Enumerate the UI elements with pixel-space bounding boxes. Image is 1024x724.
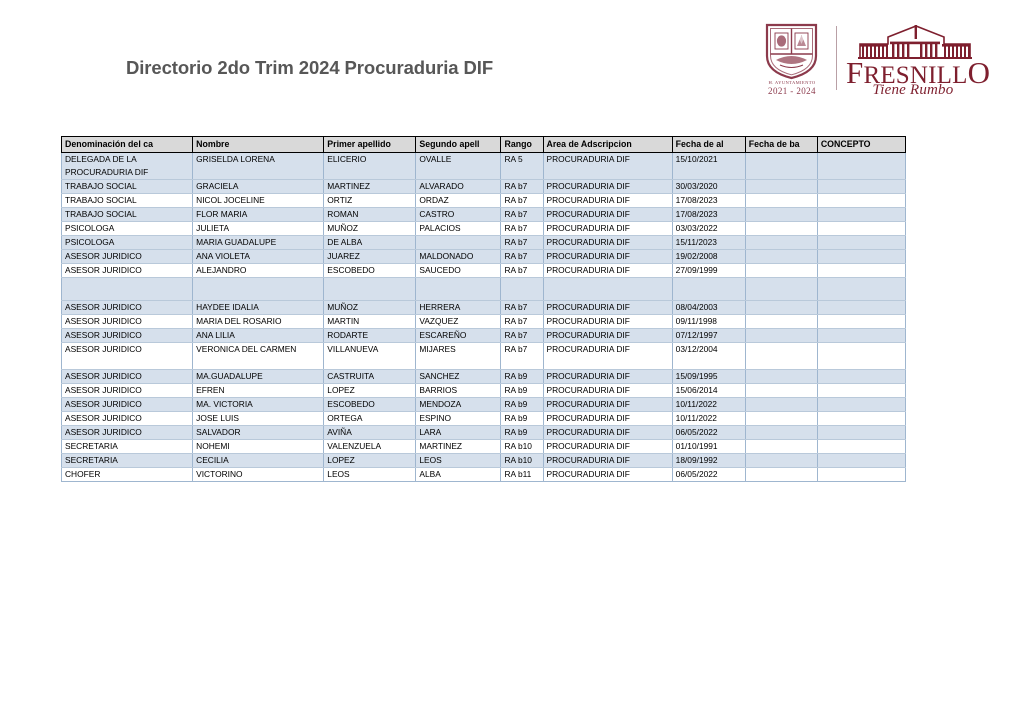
table-cell: PROCURADURIA DIF xyxy=(543,440,672,454)
table-cell: ASESOR JURIDICO xyxy=(62,329,193,343)
table-cell: ASESOR JURIDICO xyxy=(62,384,193,398)
table-cell xyxy=(672,278,745,301)
table-cell: ASESOR JURIDICO xyxy=(62,398,193,412)
table-cell xyxy=(745,454,817,468)
table-cell xyxy=(62,278,193,301)
table-cell: TRABAJO SOCIAL xyxy=(62,194,193,208)
table-cell: MARTINEZ xyxy=(324,180,416,194)
table-cell: PROCURADURIA DIF xyxy=(543,398,672,412)
table-row: ASESOR JURIDICOMA. VICTORIAESCOBEDOMENDO… xyxy=(62,398,906,412)
table-cell: PROCURADURIA DIF xyxy=(543,426,672,440)
table-cell: RA b7 xyxy=(501,264,543,278)
table-cell xyxy=(817,194,905,208)
fresnillo-tagline: Tiene Rumbo xyxy=(846,82,980,99)
table-cell: VALENZUELA xyxy=(324,440,416,454)
table-row: TRABAJO SOCIALFLOR MARIAROMANCASTRORA b7… xyxy=(62,208,906,222)
table-cell: RODARTE xyxy=(324,329,416,343)
column-header-area-adscripcion: Area de Adscripcion xyxy=(543,137,672,153)
table-cell: JUAREZ xyxy=(324,250,416,264)
table-cell xyxy=(745,343,817,370)
table-cell: CASTRUITA xyxy=(324,370,416,384)
table-cell: DE ALBA xyxy=(324,236,416,250)
table-row: PSICOLOGAJULIETAMUÑOZPALACIOSRA b7PROCUR… xyxy=(62,222,906,236)
table-row: PSICOLOGAMARIA GUADALUPEDE ALBARA b7PROC… xyxy=(62,236,906,250)
table-cell: CASTRO xyxy=(416,208,501,222)
table-cell: VICTORINO xyxy=(193,468,324,482)
table-cell: PALACIOS xyxy=(416,222,501,236)
table-cell: RA b9 xyxy=(501,412,543,426)
table-cell: 06/05/2022 xyxy=(672,468,745,482)
fresnillo-logo: FRESNILLO Tiene Rumbo xyxy=(846,24,980,104)
table-cell: SECRETARIA xyxy=(62,440,193,454)
table-cell xyxy=(745,264,817,278)
table-cell: 03/03/2022 xyxy=(672,222,745,236)
table-cell: 07/12/1997 xyxy=(672,329,745,343)
table-cell: 15/09/1995 xyxy=(672,370,745,384)
table-cell: MUÑOZ xyxy=(324,301,416,315)
table-cell: GRACIELA xyxy=(193,180,324,194)
table-cell: MALDONADO xyxy=(416,250,501,264)
table-cell xyxy=(745,384,817,398)
table-cell: JOSE LUIS xyxy=(193,412,324,426)
table-cell: ASESOR JURIDICO xyxy=(62,426,193,440)
table-cell: HERRERA xyxy=(416,301,501,315)
table-cell xyxy=(745,153,817,180)
table-cell: LOPEZ xyxy=(324,454,416,468)
table-cell: HAYDEE IDALIA xyxy=(193,301,324,315)
table-cell: TRABAJO SOCIAL xyxy=(62,180,193,194)
table-cell: PROCURADURIA DIF xyxy=(543,153,672,180)
table-cell: BARRIOS xyxy=(416,384,501,398)
table-cell: LOPEZ xyxy=(324,384,416,398)
directory-table: Denominación del ca Nombre Primer apelli… xyxy=(61,136,906,482)
table-cell: PROCURADURIA DIF xyxy=(543,301,672,315)
table-cell: VERONICA DEL CARMEN xyxy=(193,343,324,370)
table-cell: RA b10 xyxy=(501,454,543,468)
table-cell xyxy=(745,329,817,343)
table-cell: RA b7 xyxy=(501,236,543,250)
table-cell: 17/08/2023 xyxy=(672,208,745,222)
table-cell: JULIETA xyxy=(193,222,324,236)
table-header: Denominación del ca Nombre Primer apelli… xyxy=(62,137,906,153)
table-cell xyxy=(745,222,817,236)
table-header-row: Denominación del ca Nombre Primer apelli… xyxy=(62,137,906,153)
table-cell xyxy=(817,454,905,468)
column-header-fecha-baja: Fecha de ba xyxy=(745,137,817,153)
table-cell: 01/10/1991 xyxy=(672,440,745,454)
table-row: DELEGADA DE LA PROCURADURIA DIFGRISELDA … xyxy=(62,153,906,180)
table-cell: ASESOR JURIDICO xyxy=(62,343,193,370)
table-cell: RA b10 xyxy=(501,440,543,454)
table-cell xyxy=(745,370,817,384)
table-cell xyxy=(501,278,543,301)
crest-caption-line2: 2021 - 2024 xyxy=(752,86,832,96)
table-cell xyxy=(817,426,905,440)
table-cell: SAUCEDO xyxy=(416,264,501,278)
table-cell xyxy=(745,440,817,454)
table-cell: ORTEGA xyxy=(324,412,416,426)
table-cell xyxy=(817,384,905,398)
column-header-segundo-apellido: Segundo apell xyxy=(416,137,501,153)
table-cell: ASESOR JURIDICO xyxy=(62,301,193,315)
table-cell: MIJARES xyxy=(416,343,501,370)
table-row: ASESOR JURIDICOMARIA DEL ROSARIOMARTINVA… xyxy=(62,315,906,329)
table-cell: ROMAN xyxy=(324,208,416,222)
table-cell: PROCURADURIA DIF xyxy=(543,384,672,398)
table-cell: PROCURADURIA DIF xyxy=(543,370,672,384)
table-cell: ASESOR JURIDICO xyxy=(62,370,193,384)
table-cell xyxy=(745,412,817,426)
table-cell: EFREN xyxy=(193,384,324,398)
table-cell: ASESOR JURIDICO xyxy=(62,250,193,264)
table-cell: SANCHEZ xyxy=(416,370,501,384)
table-cell: 15/06/2014 xyxy=(672,384,745,398)
table-row: ASESOR JURIDICOMA.GUADALUPECASTRUITASANC… xyxy=(62,370,906,384)
table-row: ASESOR JURIDICOEFRENLOPEZBARRIOSRA b9PRO… xyxy=(62,384,906,398)
table-cell xyxy=(745,398,817,412)
table-cell xyxy=(817,264,905,278)
table-cell: RA b9 xyxy=(501,426,543,440)
table-row: ASESOR JURIDICOJOSE LUISORTEGAESPINORA b… xyxy=(62,412,906,426)
table-row: ASESOR JURIDICOHAYDEE IDALIAMUÑOZHERRERA… xyxy=(62,301,906,315)
table-cell: RA b9 xyxy=(501,398,543,412)
table-cell: 18/09/1992 xyxy=(672,454,745,468)
table-cell: RA b7 xyxy=(501,194,543,208)
table-cell: LEOS xyxy=(324,468,416,482)
table-row: TRABAJO SOCIALNICOL JOCELINEORTIZORDAZRA… xyxy=(62,194,906,208)
column-header-primer-apellido: Primer apellido xyxy=(324,137,416,153)
table-cell: ALBA xyxy=(416,468,501,482)
table-cell: ANA LILIA xyxy=(193,329,324,343)
table-cell xyxy=(745,194,817,208)
table-cell: 08/04/2003 xyxy=(672,301,745,315)
logo-block: H. AYUNTAMIENTO 2021 - 2024 xyxy=(752,18,980,108)
table-cell xyxy=(817,236,905,250)
table-cell: PSICOLOGA xyxy=(62,236,193,250)
table-cell xyxy=(745,180,817,194)
column-header-nombre: Nombre xyxy=(193,137,324,153)
municipal-crest-logo: H. AYUNTAMIENTO 2021 - 2024 xyxy=(752,18,832,106)
table-cell xyxy=(745,315,817,329)
table-cell: ASESOR JURIDICO xyxy=(62,315,193,329)
table-cell xyxy=(817,180,905,194)
table-row xyxy=(62,278,906,301)
table-cell xyxy=(745,426,817,440)
table-cell xyxy=(817,301,905,315)
table-cell xyxy=(416,278,501,301)
table-cell: PROCURADURIA DIF xyxy=(543,208,672,222)
table-cell: MUÑOZ xyxy=(324,222,416,236)
table-cell: OVALLE xyxy=(416,153,501,180)
table-cell xyxy=(745,250,817,264)
table-cell: 27/09/1999 xyxy=(672,264,745,278)
table-row: ASESOR JURIDICOANA LILIARODARTEESCAREÑOR… xyxy=(62,329,906,343)
table-cell: ORDAZ xyxy=(416,194,501,208)
table-cell: ASESOR JURIDICO xyxy=(62,264,193,278)
document-header: Directorio 2do Trim 2024 Procuraduria DI… xyxy=(0,0,1024,120)
table-cell: PROCURADURIA DIF xyxy=(543,180,672,194)
table-cell xyxy=(324,278,416,301)
table-cell: RA b7 xyxy=(501,343,543,370)
table-cell: SECRETARIA xyxy=(62,454,193,468)
table-cell: PROCURADURIA DIF xyxy=(543,264,672,278)
table-cell xyxy=(817,208,905,222)
table-cell: PROCURADURIA DIF xyxy=(543,329,672,343)
table-cell xyxy=(817,468,905,482)
table-cell: 03/12/2004 xyxy=(672,343,745,370)
table-cell: RA b7 xyxy=(501,180,543,194)
table-cell: GRISELDA LORENA xyxy=(193,153,324,180)
table-cell: VILLANUEVA xyxy=(324,343,416,370)
table-cell xyxy=(817,222,905,236)
table-body: DELEGADA DE LA PROCURADURIA DIFGRISELDA … xyxy=(62,153,906,482)
table-cell: RA b9 xyxy=(501,370,543,384)
table-cell: ESCAREÑO xyxy=(416,329,501,343)
table-cell xyxy=(745,278,817,301)
column-header-rango: Rango xyxy=(501,137,543,153)
table-cell xyxy=(817,440,905,454)
table-cell: PROCURADURIA DIF xyxy=(543,250,672,264)
table-row: ASESOR JURIDICOSALVADORAVIÑALARARA b9PRO… xyxy=(62,426,906,440)
table-cell: PROCURADURIA DIF xyxy=(543,468,672,482)
table-cell xyxy=(543,278,672,301)
table-cell: PROCURADURIA DIF xyxy=(543,222,672,236)
table-cell: 06/05/2022 xyxy=(672,426,745,440)
shield-icon xyxy=(764,22,819,80)
table-cell: MARTINEZ xyxy=(416,440,501,454)
table-cell: PROCURADURIA DIF xyxy=(543,236,672,250)
crest-caption-line1: H. AYUNTAMIENTO xyxy=(752,80,832,85)
table-cell: 09/11/1998 xyxy=(672,315,745,329)
table-row: CHOFERVICTORINOLEOSALBARA b11PROCURADURI… xyxy=(62,468,906,482)
table-cell xyxy=(817,250,905,264)
column-header-concepto: CONCEPTO xyxy=(817,137,905,153)
table-cell xyxy=(745,236,817,250)
table-cell: MARIA DEL ROSARIO xyxy=(193,315,324,329)
table-cell: RA b7 xyxy=(501,250,543,264)
table-cell: 19/02/2008 xyxy=(672,250,745,264)
table-cell: MARIA GUADALUPE xyxy=(193,236,324,250)
table-cell: ELICERIO xyxy=(324,153,416,180)
table-cell: LEOS xyxy=(416,454,501,468)
table-cell: 30/03/2020 xyxy=(672,180,745,194)
table-cell: ASESOR JURIDICO xyxy=(62,412,193,426)
table-row: TRABAJO SOCIALGRACIELAMARTINEZALVARADORA… xyxy=(62,180,906,194)
table-cell: PSICOLOGA xyxy=(62,222,193,236)
table-cell: 10/11/2022 xyxy=(672,398,745,412)
table-cell: CHOFER xyxy=(62,468,193,482)
table-cell xyxy=(817,398,905,412)
table-cell xyxy=(745,468,817,482)
table-cell: ESCOBEDO xyxy=(324,398,416,412)
column-header-denominacion: Denominación del ca xyxy=(62,137,193,153)
table-cell: DELEGADA DE LA PROCURADURIA DIF xyxy=(62,153,193,180)
table-cell xyxy=(817,412,905,426)
logo-divider xyxy=(836,26,837,90)
table-cell: CECILIA xyxy=(193,454,324,468)
table-cell: ORTIZ xyxy=(324,194,416,208)
table-cell: MA. VICTORIA xyxy=(193,398,324,412)
table-cell: AVIÑA xyxy=(324,426,416,440)
table-row: SECRETARIANOHEMIVALENZUELAMARTINEZRA b10… xyxy=(62,440,906,454)
page-title: Directorio 2do Trim 2024 Procuraduria DI… xyxy=(126,57,493,79)
table-cell xyxy=(817,315,905,329)
table-cell: NOHEMI xyxy=(193,440,324,454)
table-cell xyxy=(817,343,905,370)
table-cell: RA b7 xyxy=(501,222,543,236)
table-cell xyxy=(193,278,324,301)
table-cell: MENDOZA xyxy=(416,398,501,412)
table-cell xyxy=(745,208,817,222)
table-cell xyxy=(745,301,817,315)
table-cell: TRABAJO SOCIAL xyxy=(62,208,193,222)
table-cell: RA b7 xyxy=(501,315,543,329)
table-row: SECRETARIACECILIALOPEZLEOSRA b10PROCURAD… xyxy=(62,454,906,468)
table-cell: ANA VIOLETA xyxy=(193,250,324,264)
table-cell: RA b7 xyxy=(501,208,543,222)
table-cell: 10/11/2022 xyxy=(672,412,745,426)
table-cell: RA 5 xyxy=(501,153,543,180)
table-cell: PROCURADURIA DIF xyxy=(543,412,672,426)
table-row: ASESOR JURIDICOANA VIOLETAJUAREZMALDONAD… xyxy=(62,250,906,264)
table-cell: 15/10/2021 xyxy=(672,153,745,180)
table-cell: MARTIN xyxy=(324,315,416,329)
table-cell: VAZQUEZ xyxy=(416,315,501,329)
table-cell: ALVARADO xyxy=(416,180,501,194)
table-cell: ALEJANDRO xyxy=(193,264,324,278)
table-cell: SALVADOR xyxy=(193,426,324,440)
table-cell: ESPINO xyxy=(416,412,501,426)
table-cell: RA b7 xyxy=(501,329,543,343)
table-cell: LARA xyxy=(416,426,501,440)
table-cell xyxy=(817,329,905,343)
table-cell xyxy=(817,370,905,384)
table-row: ASESOR JURIDICOALEJANDROESCOBEDOSAUCEDOR… xyxy=(62,264,906,278)
table-cell: 17/08/2023 xyxy=(672,194,745,208)
table-cell: ESCOBEDO xyxy=(324,264,416,278)
table-cell: FLOR MARIA xyxy=(193,208,324,222)
table-cell xyxy=(817,153,905,180)
table-cell: PROCURADURIA DIF xyxy=(543,343,672,370)
table-cell xyxy=(817,278,905,301)
table-cell: NICOL JOCELINE xyxy=(193,194,324,208)
table-row: ASESOR JURIDICOVERONICA DEL CARMENVILLAN… xyxy=(62,343,906,370)
skyline-icon xyxy=(854,24,976,60)
table-cell: 15/11/2023 xyxy=(672,236,745,250)
table-cell: RA b11 xyxy=(501,468,543,482)
table-cell: MA.GUADALUPE xyxy=(193,370,324,384)
table-cell: PROCURADURIA DIF xyxy=(543,454,672,468)
column-header-fecha-alta: Fecha de al xyxy=(672,137,745,153)
table-cell: RA b9 xyxy=(501,384,543,398)
table-cell: RA b7 xyxy=(501,301,543,315)
table-cell xyxy=(416,236,501,250)
table-cell: PROCURADURIA DIF xyxy=(543,315,672,329)
table-cell: PROCURADURIA DIF xyxy=(543,194,672,208)
